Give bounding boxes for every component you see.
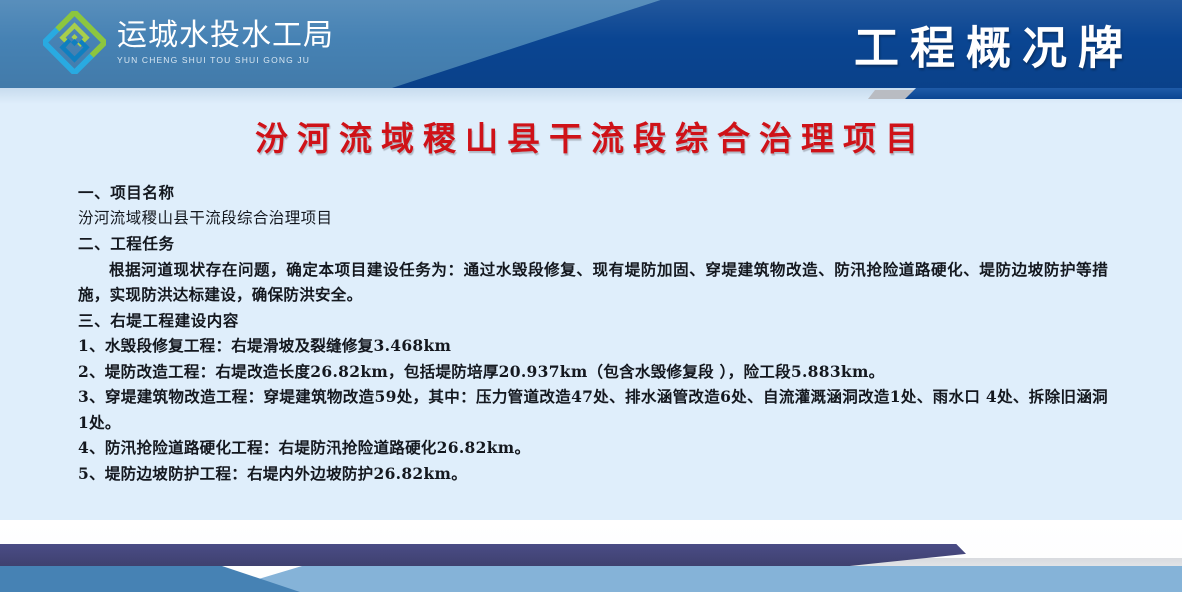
yuncheng-spiral-diamond-logo-icon [43,11,106,74]
section-3-item-4: 4、防汛抢险道路硬化工程：右堤防汛抢险道路硬化26.82km。 [78,435,1108,461]
footer-purple-band [0,544,966,566]
section-heading-2: 二、工程任务 [78,231,1108,257]
header-title: 工程概况牌 [854,12,1134,77]
header-accent-ribbon [0,88,1182,104]
board-header: 运城水投水工局 YUN CHENG SHUI TOU SHUI GONG JU … [0,0,1182,88]
company-logo-lockup: 运城水投水工局 YUN CHENG SHUI TOU SHUI GONG JU [43,11,334,74]
company-name-block: 运城水投水工局 YUN CHENG SHUI TOU SHUI GONG JU [117,21,334,65]
ribbon-blue-shard [905,88,1182,99]
section-1-line-1: 汾河流域稷山县干流段综合治理项目 [78,206,1108,232]
section-3-item-3: 3、穿堤建筑物改造工程：穿堤建筑物改造59处，其中：压力管道改造47处、排水涵管… [78,384,1108,435]
board-footer-decoration [0,520,1182,592]
section-2-paragraph: 根据河道现状存在问题，确定本项目建设任务为：通过水毁段修复、现有堤防加固、穿堤建… [78,257,1108,308]
section-3-item-2: 2、堤防改造工程：右堤改造长度26.82km，包括堤防培厚20.937km（包含… [78,359,1108,385]
section-heading-3: 三、右堤工程建设内容 [78,308,1108,334]
section-3-item-5: 5、堤防边坡防护工程：右堤内外边坡防护26.82km。 [78,461,1108,487]
engineering-overview-board: 运城水投水工局 YUN CHENG SHUI TOU SHUI GONG JU … [0,0,1182,592]
company-name-cn: 运城水投水工局 [117,21,334,51]
section-3-item-1: 1、水毁段修复工程：右堤滑坡及裂缝修复3.468km [78,333,1108,359]
company-name-pinyin: YUN CHENG SHUI TOU SHUI GONG JU [117,56,334,65]
board-content: 一、项目名称 汾河流域稷山县干流段综合治理项目 二、工程任务 根据河道现状存在问… [78,180,1108,486]
section-heading-1: 一、项目名称 [78,180,1108,206]
project-title: 汾河流域稷山县干流段综合治理项目 [0,112,1182,160]
footer-light-blue-band [215,566,1182,592]
